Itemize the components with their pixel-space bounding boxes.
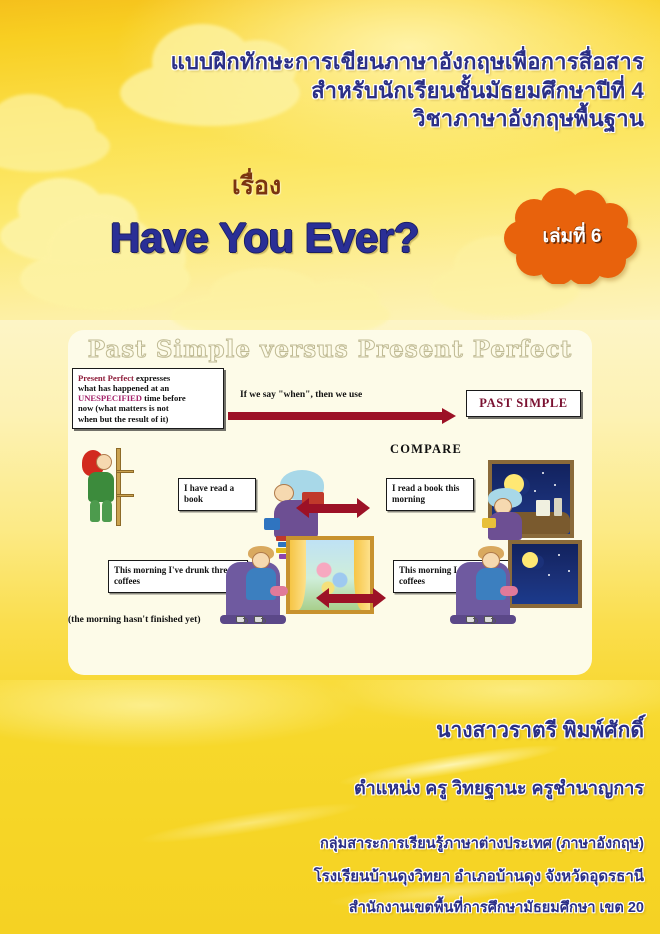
bubble-read-present-perfect: I have read a book	[178, 478, 256, 511]
bubble-read-past-simple: I read a book this morning	[386, 478, 474, 511]
armchair-man-left-figure	[226, 546, 298, 624]
credits-block: นางสาวราตรี พิมพ์ศักดิ์ ตำแหน่ง ครู วิทย…	[0, 714, 644, 919]
department-name: กลุ่มสาระการเรียนรู้ภาษาต่างประเทศ (ภาษา…	[0, 832, 644, 855]
header-line-3: วิชาภาษาอังกฤษพื้นฐาน	[0, 105, 644, 134]
right-arrow-icon	[228, 408, 456, 423]
pp-line3-bold: UNESPECIFIED	[78, 393, 142, 403]
volume-badge-label: เล่มที่ 6	[500, 188, 640, 284]
author-name: นางสาวราตรี พิมพ์ศักดิ์	[0, 714, 644, 747]
cover-page: แบบฝึกทักษะการเขียนภาษาอังกฤษเพื่อการสื่…	[0, 0, 660, 934]
pp-line5: when but the result of it)	[78, 414, 219, 424]
illustration-card: Past Simple versus Present Perfect Prese…	[68, 330, 592, 675]
arrow-condition-label: If we say "when", then we use	[240, 390, 362, 400]
header-block: แบบฝึกทักษะการเขียนภาษาอังกฤษเพื่อการสื่…	[0, 48, 644, 134]
night-reading-lady-figure	[482, 488, 532, 540]
office-name: สำนักงานเขตพื้นที่การศึกษามัธยมศึกษา เขต…	[0, 896, 644, 919]
topic-label: เรื่อง	[232, 166, 281, 206]
man-on-ladder-figure	[80, 448, 136, 526]
morning-not-finished-note: (the morning hasn't finished yet)	[68, 615, 200, 625]
past-simple-box: PAST SIMPLE	[466, 390, 581, 417]
pp-line3-rest: time before	[142, 393, 186, 403]
volume-badge: เล่มที่ 6	[500, 188, 640, 284]
page-title: Have You Ever?	[110, 214, 419, 262]
pp-line1-rest: expresses	[134, 373, 170, 383]
compare-arrow-reading-icon	[296, 498, 370, 518]
armchair-man-right-figure	[456, 546, 528, 624]
illustration-title: Past Simple versus Present Perfect	[68, 336, 592, 363]
compare-label: COMPARE	[390, 442, 462, 457]
present-perfect-definition-box: Present Perfect expresses what has happe…	[72, 368, 224, 429]
compare-arrow-coffee-icon	[316, 588, 386, 608]
school-name: โรงเรียนบ้านดุงวิทยา อำเภอบ้านดุง จังหวั…	[0, 864, 644, 888]
header-line-1: แบบฝึกทักษะการเขียนภาษาอังกฤษเพื่อการสื่…	[0, 48, 644, 77]
pp-line4: now (what matters is not	[78, 403, 219, 413]
author-position: ตำแหน่ง ครู วิทยฐานะ ครูชำนาญการ	[0, 773, 644, 802]
pp-line2: what has happened at an	[78, 383, 219, 393]
pp-line1-bold: Present Perfect	[78, 373, 134, 383]
header-line-2: สำหรับนักเรียนชั้นมัธยมศึกษาปีที่ 4	[0, 77, 644, 106]
